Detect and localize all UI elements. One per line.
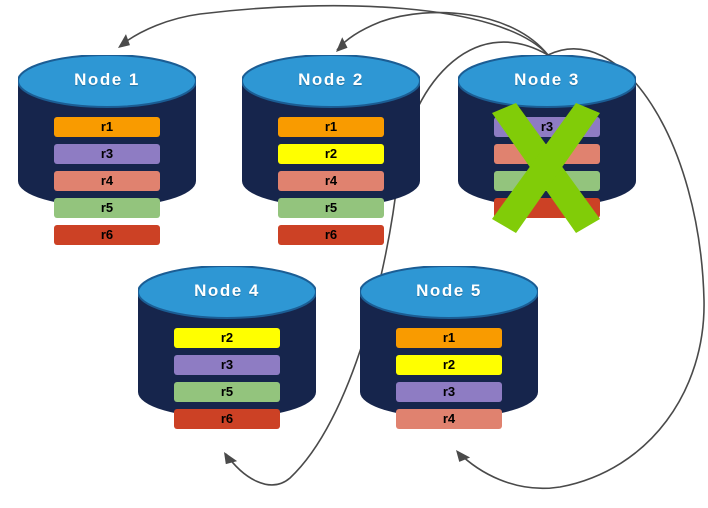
replica-bar[interactable]: r3 (54, 144, 160, 164)
replica-bar[interactable] (494, 198, 600, 218)
arrowhead-node4 (219, 449, 237, 468)
database-node-5[interactable]: Node 5r1r2r3r4 (360, 266, 538, 444)
database-node-2[interactable]: Node 2r1r2r4r5r6 (242, 55, 420, 233)
replica-list: r1r2r3r4 (360, 328, 538, 429)
replica-bar[interactable]: r4 (278, 171, 384, 191)
replica-list: r3 (458, 117, 636, 218)
replica-bar[interactable] (494, 144, 600, 164)
replica-bar[interactable]: r5 (54, 198, 160, 218)
diagram-canvas: Node 1r1r3r4r5r6Node 2r1r2r4r5r6Node 3r3… (0, 0, 708, 508)
replica-bar[interactable]: r4 (396, 409, 502, 429)
database-node-1[interactable]: Node 1r1r3r4r5r6 (18, 55, 196, 233)
replica-bar[interactable] (494, 171, 600, 191)
replica-bar[interactable]: r1 (278, 117, 384, 137)
replica-bar[interactable]: r2 (278, 144, 384, 164)
edge-node3-to-node2 (337, 13, 548, 55)
replica-bar[interactable]: r3 (396, 382, 502, 402)
node-title: Node 1 (18, 70, 196, 90)
edge-node3-to-node1 (120, 6, 548, 55)
replica-bar[interactable]: r4 (54, 171, 160, 191)
arrowhead-node5 (452, 446, 470, 465)
node-title: Node 2 (242, 70, 420, 90)
database-node-3[interactable]: Node 3r3 (458, 55, 636, 233)
arrowhead-node2 (332, 37, 350, 55)
replica-list: r1r3r4r5r6 (18, 117, 196, 245)
replica-bar[interactable]: r1 (396, 328, 502, 348)
replica-list: r1r2r4r5r6 (242, 117, 420, 245)
replica-bar[interactable]: r6 (174, 409, 280, 429)
arrowhead-node1 (114, 34, 133, 52)
replica-bar[interactable]: r5 (174, 382, 280, 402)
replica-bar[interactable]: r3 (174, 355, 280, 375)
replica-bar[interactable]: r2 (174, 328, 280, 348)
replica-bar[interactable]: r3 (494, 117, 600, 137)
replica-bar[interactable]: r1 (54, 117, 160, 137)
node-title: Node 3 (458, 70, 636, 90)
node-title: Node 4 (138, 281, 316, 301)
database-node-4[interactable]: Node 4r2r3r5r6 (138, 266, 316, 444)
replica-list: r2r3r5r6 (138, 328, 316, 429)
node-title: Node 5 (360, 281, 538, 301)
replica-bar[interactable]: r6 (54, 225, 160, 245)
replica-bar[interactable]: r5 (278, 198, 384, 218)
replica-bar[interactable]: r2 (396, 355, 502, 375)
replica-bar[interactable]: r6 (278, 225, 384, 245)
